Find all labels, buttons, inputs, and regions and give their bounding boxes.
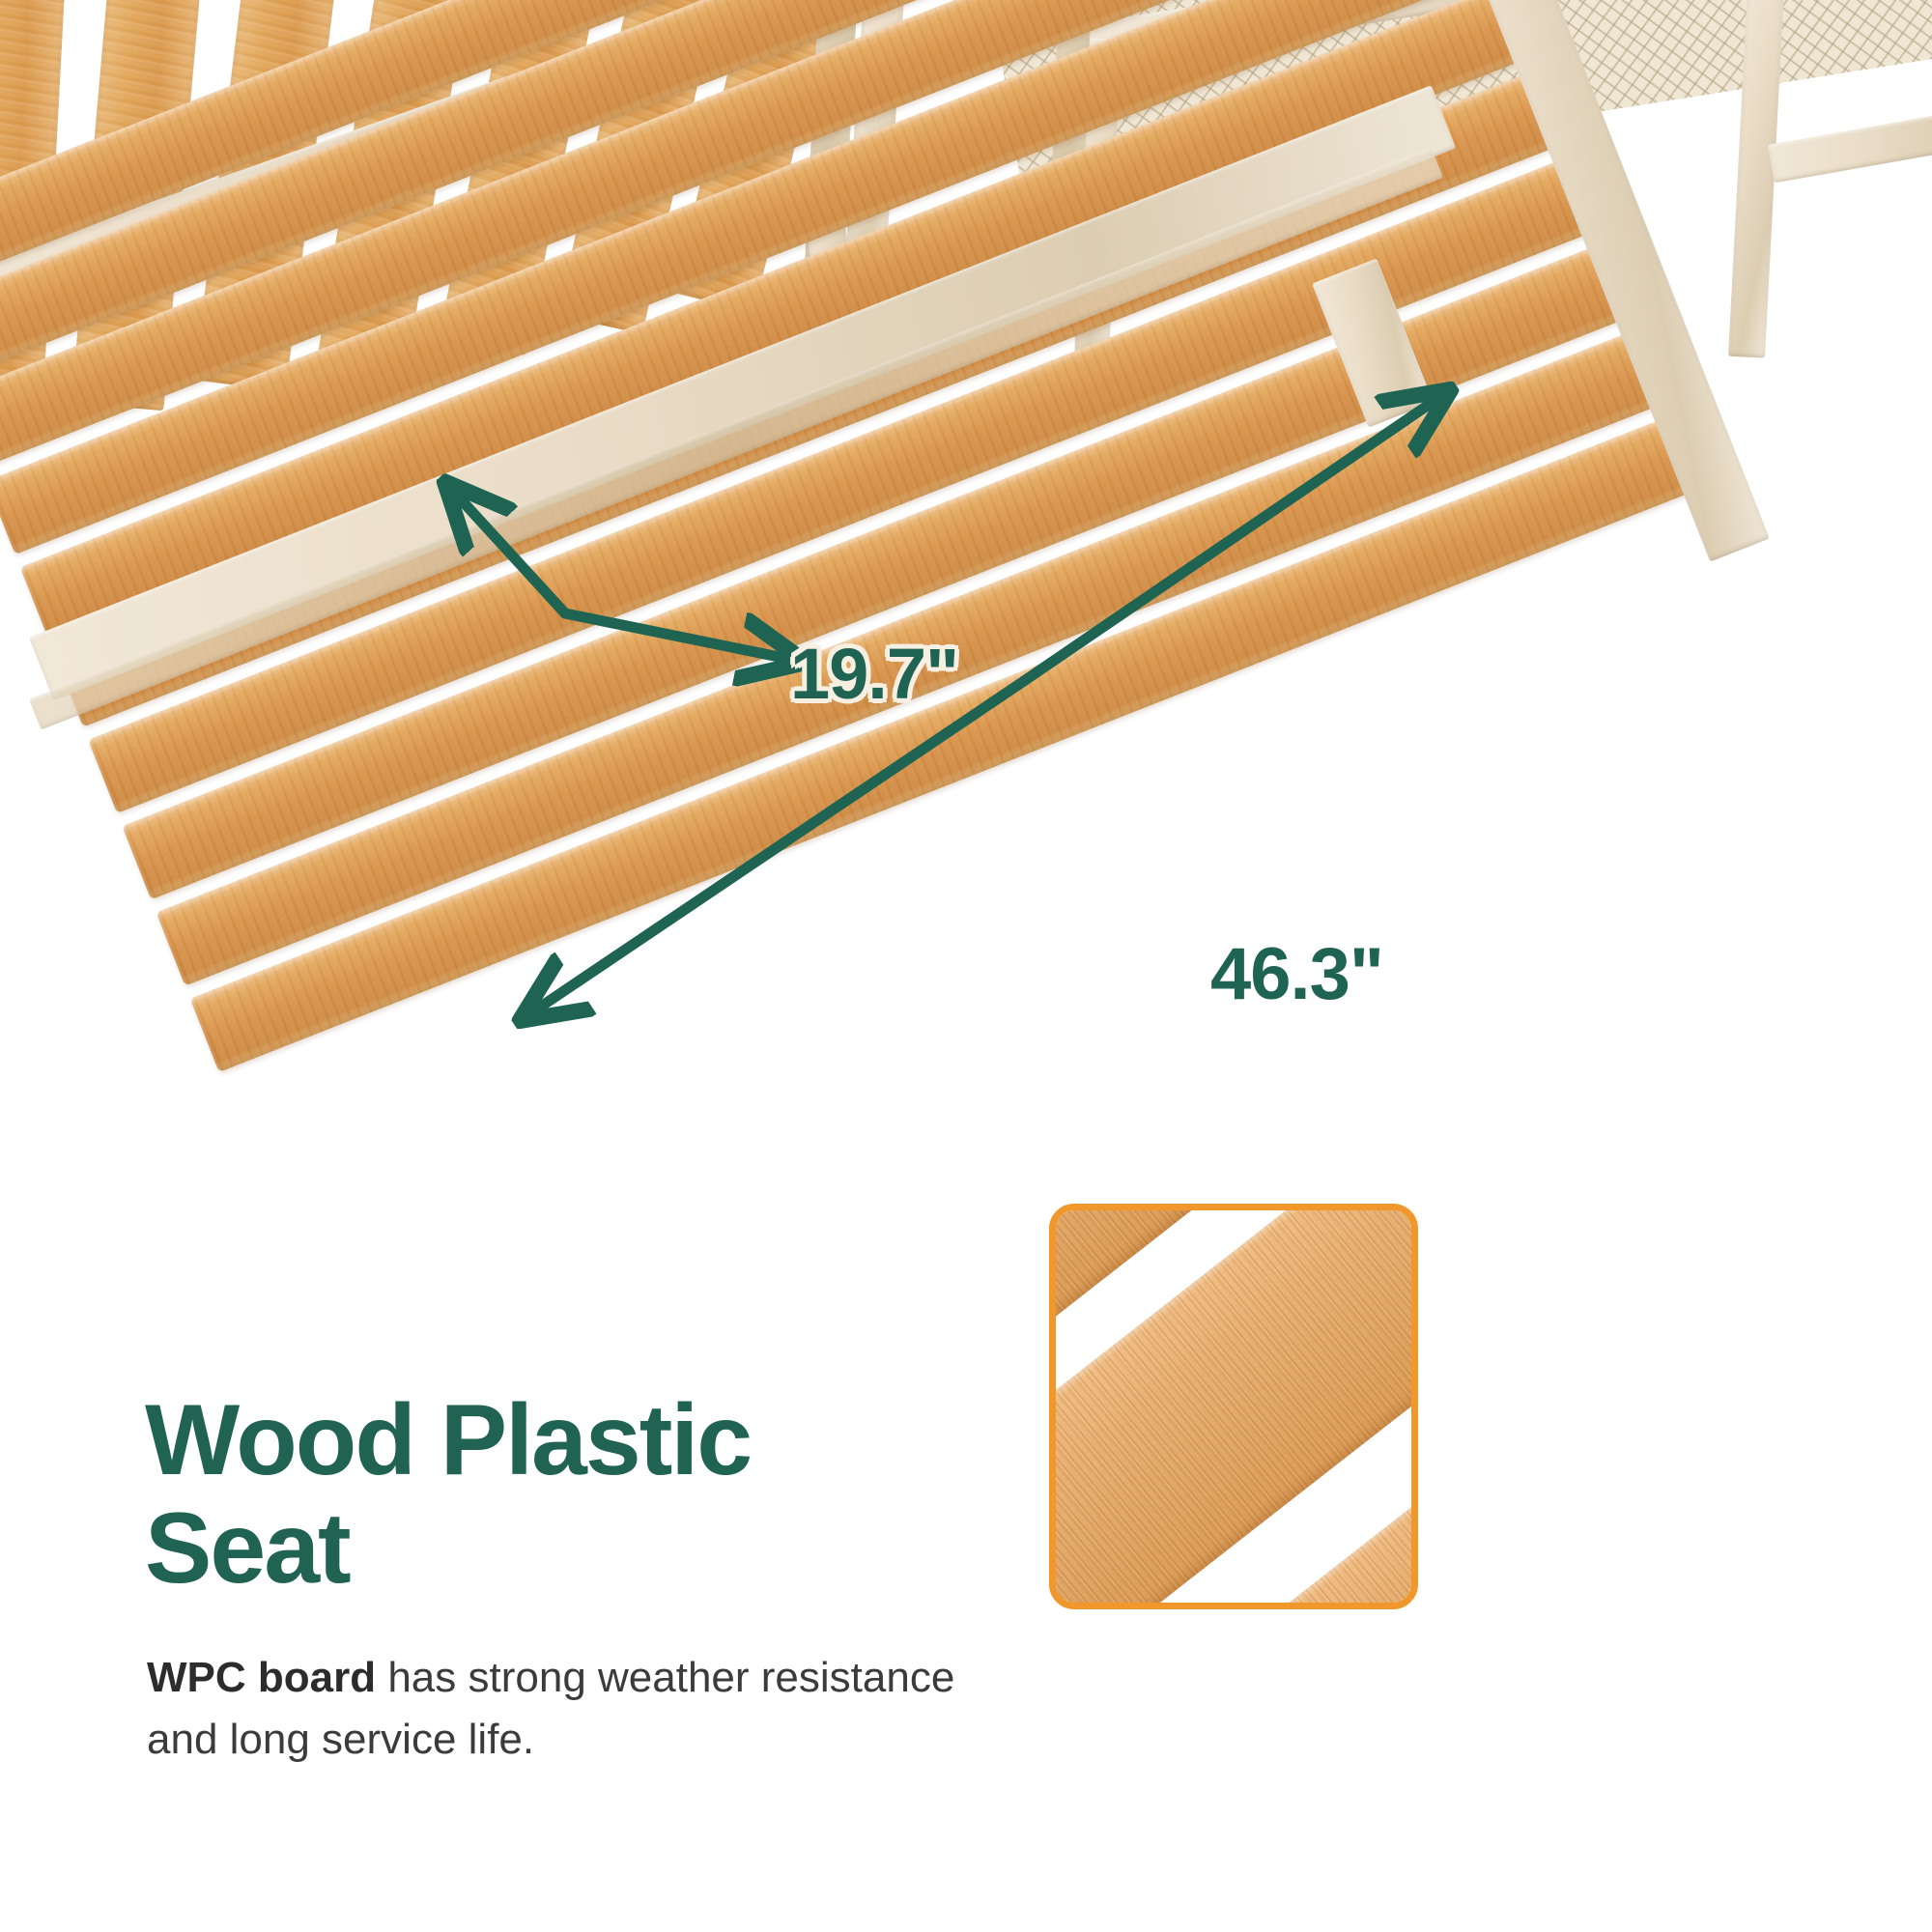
dimension-label-length: 46.3" [1210,932,1383,1016]
product-photo: 19.7" 46.3" [0,0,1932,1285]
description-bold-lead: WPC board [147,1654,376,1701]
dimension-label-depth: 19.7" [790,633,958,715]
photo-bottom-fade [0,1169,1932,1285]
headline-line-1: Wood Plastic [145,1386,937,1494]
headline: Wood Plastic Seat [145,1386,937,1604]
closeup-wood-grain [1049,1204,1418,1609]
table-rear-rail [1768,101,1932,184]
callout-section: Wood Plastic Seat WPC board has strong w… [0,1285,1932,1932]
headline-line-2: Seat [145,1494,937,1603]
marketing-image: 19.7" 46.3" Wood Plastic Seat WPC board … [0,0,1932,1932]
closeup-inset [1049,1204,1418,1609]
description-text: WPC board has strong weather resistance … [147,1647,978,1771]
